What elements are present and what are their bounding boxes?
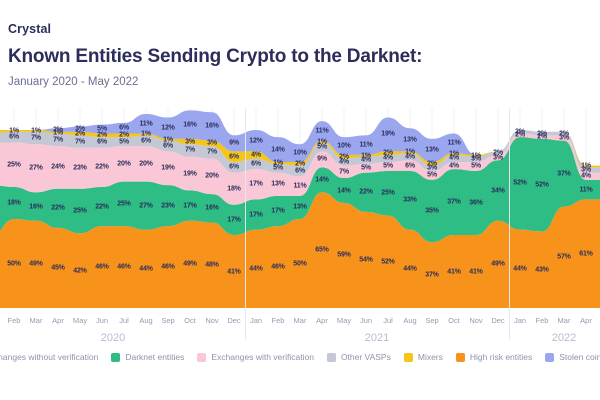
x-axis: JanFebMarAprMayJunJulAugSepOctNovDecJanF… xyxy=(0,308,600,348)
legend-item[interactable]: Stolen coins xyxy=(545,352,600,362)
legend-item[interactable]: Exchanges with verification xyxy=(197,352,314,362)
legend-item[interactable]: Exchanges without verification xyxy=(0,352,98,362)
chart-legend: Exchanges without verificationDarknet en… xyxy=(0,352,600,362)
x-axis-tick: Jul xyxy=(119,316,129,325)
x-axis-tick: Jun xyxy=(96,316,108,325)
x-axis-tick: Aug xyxy=(139,316,152,325)
legend-item[interactable]: Mixers xyxy=(404,352,443,362)
legend-swatch-icon xyxy=(197,353,206,362)
x-axis-tick: Mar xyxy=(30,316,43,325)
x-axis-tick: Aug xyxy=(403,316,416,325)
x-axis-tick: Sep xyxy=(425,316,438,325)
page-title: Known Entities Sending Crypto to the Dar… xyxy=(8,45,592,69)
legend-item[interactable]: Darknet entities xyxy=(111,352,184,362)
stacked-area-chart xyxy=(0,108,600,308)
legend-swatch-icon xyxy=(404,353,413,362)
x-axis-tick: Feb xyxy=(536,316,549,325)
x-axis-tick: Nov xyxy=(205,316,218,325)
x-axis-tick: Jan xyxy=(514,316,526,325)
legend-label: Other VASPs xyxy=(341,352,391,362)
x-axis-tick: Jun xyxy=(360,316,372,325)
x-axis-tick: Nov xyxy=(469,316,482,325)
x-axis-tick: Jul xyxy=(383,316,393,325)
x-axis-tick: Dec xyxy=(491,316,504,325)
x-axis-tick: May xyxy=(337,316,351,325)
x-axis-year-label: 2021 xyxy=(365,332,389,344)
x-axis-tick: Apr xyxy=(316,316,328,325)
legend-swatch-icon xyxy=(456,353,465,362)
x-axis-tick: Oct xyxy=(448,316,460,325)
chart-subtitle: January 2020 - May 2022 xyxy=(8,75,592,89)
legend-label: Exchanges with verification xyxy=(211,352,314,362)
x-axis-year-label: 2022 xyxy=(552,332,576,344)
year-separator xyxy=(245,108,246,340)
chart-canvas xyxy=(0,108,600,308)
brand-name: Crystal xyxy=(8,22,592,36)
x-axis-tick: Mar xyxy=(558,316,571,325)
x-axis-tick: Jan xyxy=(250,316,262,325)
x-axis-tick: Dec xyxy=(227,316,240,325)
x-axis-tick: May xyxy=(73,316,87,325)
legend-label: Darknet entities xyxy=(125,352,184,362)
legend-item[interactable]: High risk entities xyxy=(456,352,532,362)
x-axis-tick: Sep xyxy=(161,316,174,325)
x-axis-year-label: 2020 xyxy=(101,332,125,344)
legend-label: Exchanges without verification xyxy=(0,352,98,362)
legend-swatch-icon xyxy=(545,353,554,362)
year-separator xyxy=(509,108,510,340)
legend-label: Mixers xyxy=(418,352,443,362)
legend-item[interactable]: Other VASPs xyxy=(327,352,391,362)
x-axis-tick: Oct xyxy=(184,316,196,325)
legend-label: High risk entities xyxy=(470,352,532,362)
legend-swatch-icon xyxy=(111,353,120,362)
legend-swatch-icon xyxy=(327,353,336,362)
x-axis-tick: Apr xyxy=(580,316,592,325)
x-axis-tick: Mar xyxy=(294,316,307,325)
x-axis-tick: Apr xyxy=(52,316,64,325)
x-axis-tick: Feb xyxy=(272,316,285,325)
chart-header: Crystal Known Entities Sending Crypto to… xyxy=(8,22,592,89)
x-axis-tick: Feb xyxy=(8,316,21,325)
legend-label: Stolen coins xyxy=(559,352,600,362)
